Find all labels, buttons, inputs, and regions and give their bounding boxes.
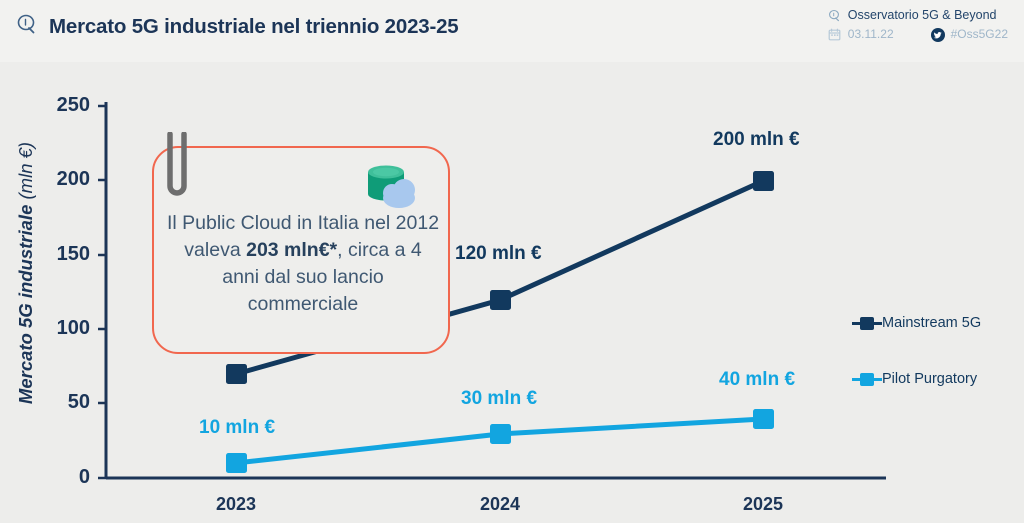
y-tick-200: 200 <box>30 168 90 191</box>
data-point-marker <box>490 290 511 310</box>
header-meta: Osservatorio 5G & Beyond 03.11.22 <box>828 8 1008 41</box>
data-label-pilot-2023: 10 mln € <box>199 417 275 439</box>
page-title-group: Mercato 5G industriale nel triennio 2023… <box>16 13 459 40</box>
y-tick-150: 150 <box>30 243 90 266</box>
date-hashtag-row: 03.11.22 #Oss5G22 <box>828 27 1008 41</box>
legend-item-pilot-purgatory[interactable]: Pilot Purgatory <box>852 370 981 388</box>
data-label-mainstream-2025: 200 mln € <box>713 129 800 151</box>
callout-text: Il Public Cloud in Italia nel 2012 valev… <box>166 210 440 318</box>
y-tick-250: 250 <box>30 94 90 117</box>
legend-item-mainstream-5g[interactable]: Mainstream 5G <box>852 314 981 332</box>
data-label-mainstream-2024: 120 mln € <box>455 243 542 265</box>
y-axis-label-text: Mercato 5G industriale <box>15 205 36 404</box>
hashtag-label[interactable]: #Oss5G22 <box>951 27 1008 41</box>
page-title: Mercato 5G industriale nel triennio 2023… <box>49 15 459 39</box>
legend-label: Mainstream 5G <box>882 315 981 331</box>
chart-legend: Mainstream 5G Pilot Purgatory <box>852 314 981 426</box>
data-label-pilot-2024: 30 mln € <box>461 388 537 410</box>
callout-highlight: 203 mln€* <box>246 239 337 261</box>
twitter-icon[interactable] <box>931 28 944 41</box>
x-tick-2024: 2024 <box>440 494 560 515</box>
data-point-marker <box>226 453 247 473</box>
cloud-database-icon <box>362 160 424 217</box>
legend-label: Pilot Purgatory <box>882 371 977 387</box>
y-tick-50: 50 <box>30 391 90 414</box>
data-point-marker <box>490 424 511 444</box>
data-point-marker <box>753 171 774 191</box>
data-point-marker <box>753 409 774 429</box>
observatory-row: Osservatorio 5G & Beyond <box>828 8 1008 22</box>
paperclip-icon <box>160 132 194 215</box>
legend-swatch-icon <box>852 370 882 388</box>
page-header: Mercato 5G industriale nel triennio 2023… <box>0 0 1024 63</box>
data-label-pilot-2025: 40 mln € <box>719 369 795 391</box>
data-point-marker <box>226 364 247 384</box>
date-label: 03.11.22 <box>848 27 894 41</box>
speech-bubble-icon <box>16 13 38 40</box>
calendar-icon <box>828 28 841 41</box>
x-tick-2025: 2025 <box>703 494 823 515</box>
observatory-label: Osservatorio 5G & Beyond <box>848 8 997 22</box>
x-tick-2023: 2023 <box>176 494 296 515</box>
legend-swatch-icon <box>852 314 882 332</box>
y-tick-0: 0 <box>30 466 90 489</box>
speech-bubble-icon <box>828 9 841 22</box>
chart-area: Mercato 5G industriale (mln €) 250 200 1… <box>0 62 1024 523</box>
y-tick-100: 100 <box>30 317 90 340</box>
